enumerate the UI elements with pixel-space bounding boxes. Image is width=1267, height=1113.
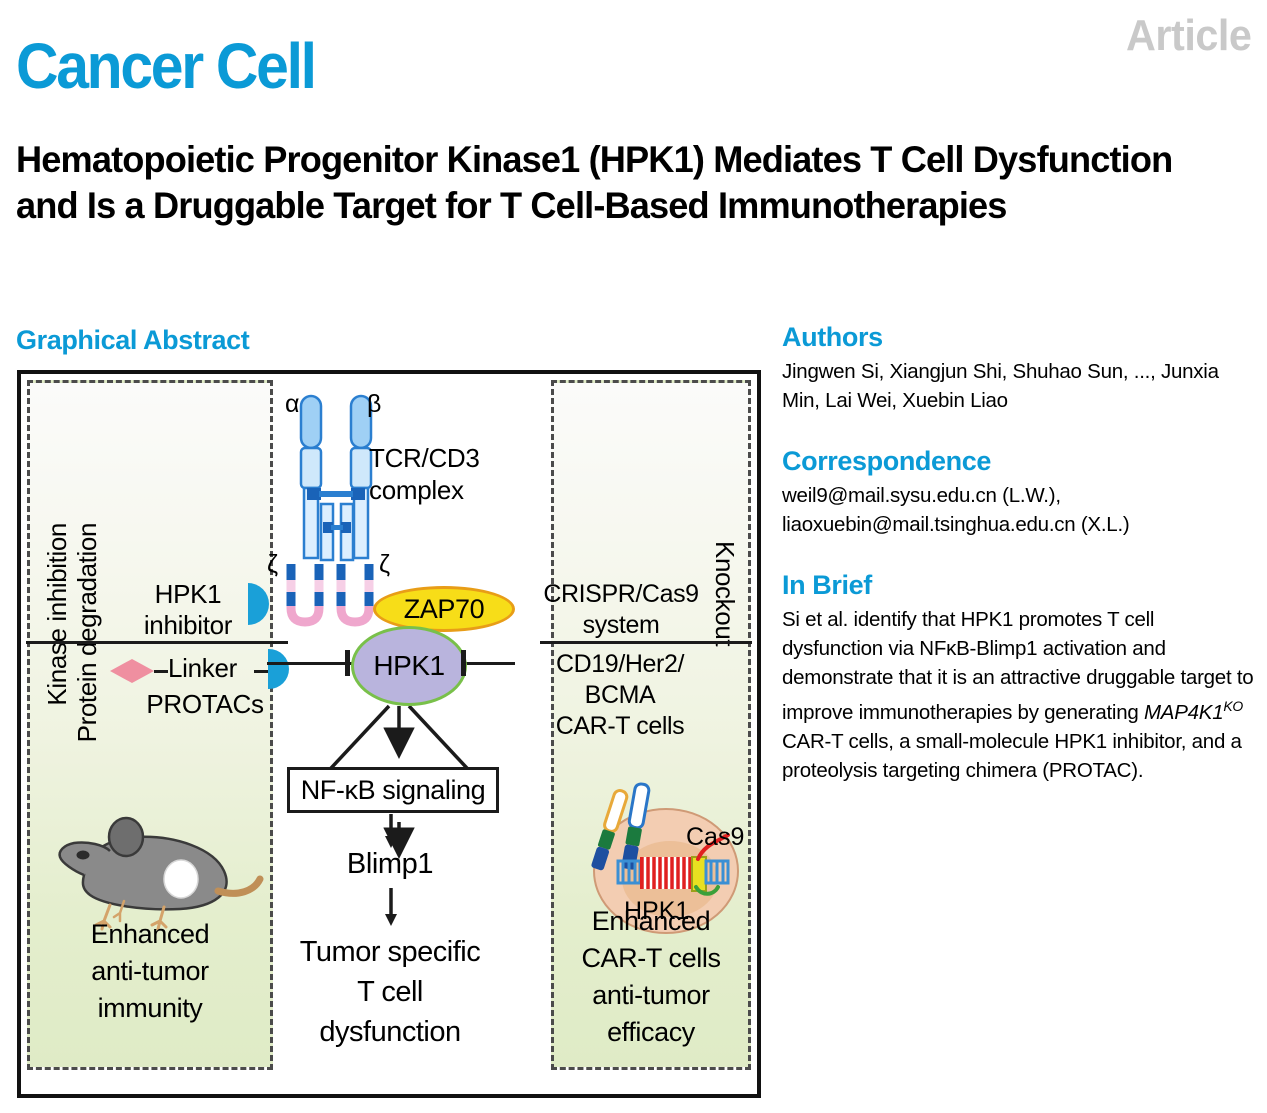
correspondence-email-1[interactable]: weil9@mail.sysu.edu.cn (L.W.), — [782, 481, 1260, 510]
correspondence-heading: Correspondence — [782, 446, 1260, 476]
linker-label: Linker — [168, 653, 237, 684]
cas9-label-text: Cas9 — [686, 823, 744, 851]
gene-superscript: KO — [1223, 698, 1243, 714]
right-panel-caption: Enhanced CAR-T cells anti-tumor efficacy — [554, 903, 748, 1051]
graphical-abstract-figure: Kinase inhibition Protein degradation HP… — [17, 370, 761, 1098]
knockout-label: Knockout — [709, 541, 740, 646]
linker-bar-left-icon — [154, 670, 168, 673]
membrane-line-right — [465, 662, 515, 665]
gene-name-italic: MAP4K1 — [1144, 701, 1223, 724]
page-header: Cancer Cell Article — [0, 0, 1267, 120]
zeta-chain-label-right: ζ — [379, 550, 390, 579]
divider-right — [540, 641, 752, 644]
tumor-specific-dysfunction-label: Tumor specific T cell dysfunction — [265, 932, 515, 1052]
protac-warhead-icon — [110, 659, 154, 683]
article-type-label: Article — [1126, 14, 1251, 58]
protac-row: Linker — [110, 653, 290, 687]
sidebar-metadata: Authors Jingwen Si, Xiangjun Shi, Shuhao… — [782, 322, 1260, 785]
nfkb-signaling-box: NF-κB signaling — [287, 767, 499, 813]
journal-logo: Cancer Cell — [16, 34, 315, 98]
inhibition-bar-left-icon — [345, 650, 350, 676]
page-title: Hematopoietic Progenitor Kinase1 (HPK1) … — [16, 136, 1217, 228]
tcr-cd3-complex-label: TCR/CD3 complex — [369, 442, 519, 506]
correspondence-list: weil9@mail.sysu.edu.cn (L.W.), liaoxuebi… — [782, 481, 1260, 539]
graphical-abstract-heading: Graphical Abstract — [16, 325, 249, 355]
hpk1-node: HPK1 — [351, 626, 467, 706]
in-brief-heading: In Brief — [782, 570, 1260, 600]
correspondence-email-2[interactable]: liaoxuebin@mail.tsinghua.edu.cn (X.L.) — [782, 510, 1260, 539]
zeta-chain-label-left: ζ — [267, 550, 278, 579]
mouse-illustration — [48, 813, 266, 933]
crispr-system-label: CRISPR/Cas9 system — [536, 579, 706, 641]
blimp1-to-dysfunction-arrow — [381, 888, 401, 928]
linker-bar-right-icon — [254, 670, 268, 673]
authors-heading: Authors — [782, 322, 1260, 352]
zap70-node: ZAP70 — [373, 586, 515, 632]
left-panel-caption: Enhanced anti-tumor immunity — [30, 916, 270, 1027]
in-brief-part-2: CAR-T cells, a small-molecule HPK1 inhib… — [782, 730, 1242, 782]
alpha-chain-label: α — [285, 390, 299, 419]
in-brief-text: Si et al. identify that HPK1 promotes T … — [782, 605, 1260, 785]
membrane-line-left — [267, 662, 353, 665]
inhibition-bar-right-icon — [461, 650, 466, 676]
blimp1-node: Blimp1 — [273, 848, 507, 881]
figure-center-column: α β ζ ζ TCR/CD3 complex ZAP70 HPK1 NF-κB… — [273, 380, 507, 1070]
kinase-inhibition-label: Kinase inhibition — [42, 523, 73, 706]
authors-list: Jingwen Si, Xiangjun Shi, Shuhao Sun, ..… — [782, 357, 1260, 415]
beta-chain-label: β — [367, 390, 381, 419]
divider-left — [26, 641, 288, 644]
